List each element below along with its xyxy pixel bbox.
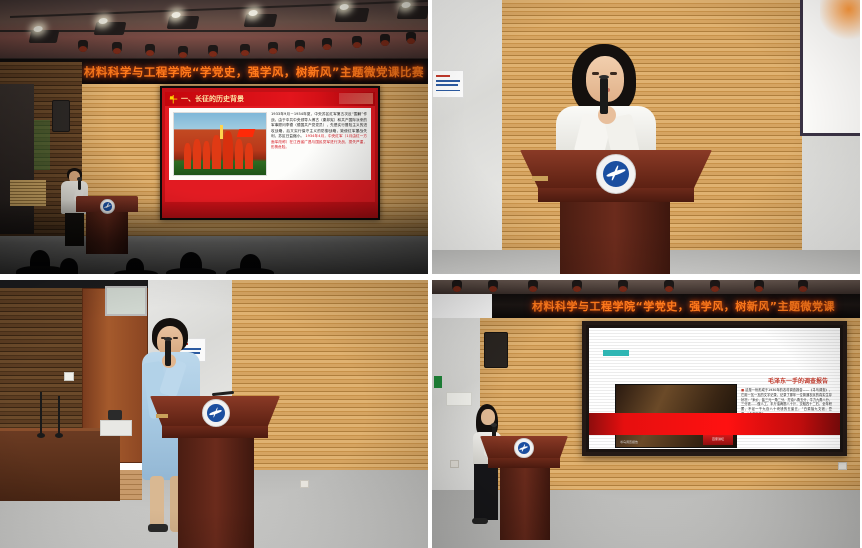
panel-top-right (432, 0, 862, 274)
panel-vignette (0, 280, 428, 548)
photo-collage: 材料科学与工程学院“学党史，强学风，树新风”主题微党课比赛 一、长征的历史背景 (0, 0, 862, 548)
panel-vignette (432, 0, 862, 274)
panel-top-left: 材料科学与工程学院“学党史，强学风，树新风”主题微党课比赛 一、长征的历史背景 (0, 0, 428, 274)
panel-vignette (0, 0, 428, 274)
collage-horizontal-seam (0, 274, 862, 280)
panel-vignette (432, 280, 862, 548)
panel-bottom-right: 材料科学与工程学院“学党史，强学风，树新风”主题微党课 毛泽东一手的调查报告 寻… (432, 280, 862, 548)
panel-bottom-left (0, 280, 428, 548)
